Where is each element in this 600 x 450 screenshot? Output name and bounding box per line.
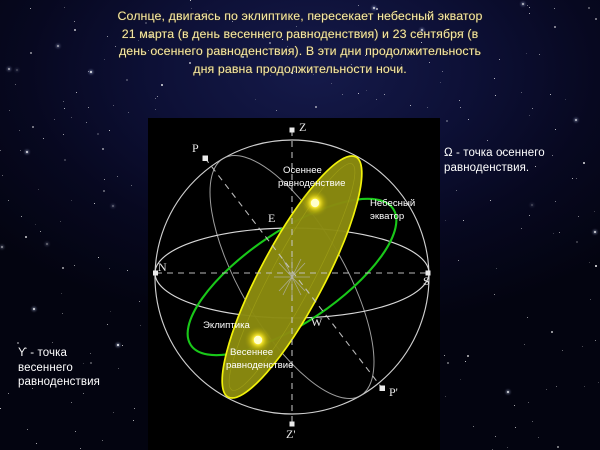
point-Pp — [380, 386, 386, 392]
celestial-sphere-diagram: Z Z' P P' N S E W Осеннее равноденствие … — [148, 118, 440, 450]
annotation-left-line-1: ϒ - точка — [18, 346, 148, 361]
point-label-Z: Z — [299, 120, 306, 134]
label-celestial-equator-line1: Небесный — [370, 198, 415, 209]
label-ecliptic: Эклиптика — [203, 320, 251, 331]
point-label-W: W — [311, 315, 323, 329]
label-autumn-equinox-line1: Осеннее — [283, 165, 322, 176]
label-spring-equinox-line1: Весеннее — [230, 347, 273, 358]
slide-canvas: Солнце, двигаясь по эклиптике, пересекае… — [0, 0, 600, 450]
point-P — [203, 156, 209, 162]
label-autumn-equinox-line2: равноденствие — [278, 178, 345, 189]
point-Z — [290, 128, 295, 133]
point-label-N: N — [158, 260, 167, 274]
point-label-E: E — [268, 211, 275, 225]
page-title: Солнце, двигаясь по эклиптике, пересекае… — [0, 8, 600, 78]
annotation-left-line-2: весеннего — [18, 361, 148, 376]
annotation-right-line-1: Ω - точка осеннего — [444, 146, 594, 161]
point-label-S: S — [423, 274, 430, 288]
annotation-left-line-3: равноденствия — [18, 375, 148, 390]
point-Zp — [290, 422, 295, 427]
label-spring-equinox-line2: равноденствие — [226, 360, 293, 371]
title-line-3: день осеннего равноденствия). В эти дни … — [18, 43, 582, 61]
title-line-4: дня равна продолжительности ночи. — [18, 61, 582, 79]
annotation-autumn-equinox: Ω - точка осеннего равноденствия. — [444, 146, 594, 175]
annotation-spring-equinox: ϒ - точка весеннего равноденствия — [18, 346, 148, 390]
title-line-2: 21 марта (в день весеннего равноденствия… — [18, 26, 582, 44]
annotation-right-line-2: равноденствия. — [444, 161, 594, 176]
point-label-P: P — [192, 141, 199, 155]
title-line-1: Солнце, двигаясь по эклиптике, пересекае… — [18, 8, 582, 26]
point-label-Zp: Z' — [286, 427, 296, 441]
label-celestial-equator-line2: экватор — [370, 211, 404, 222]
point-label-Pp: P' — [389, 385, 398, 399]
